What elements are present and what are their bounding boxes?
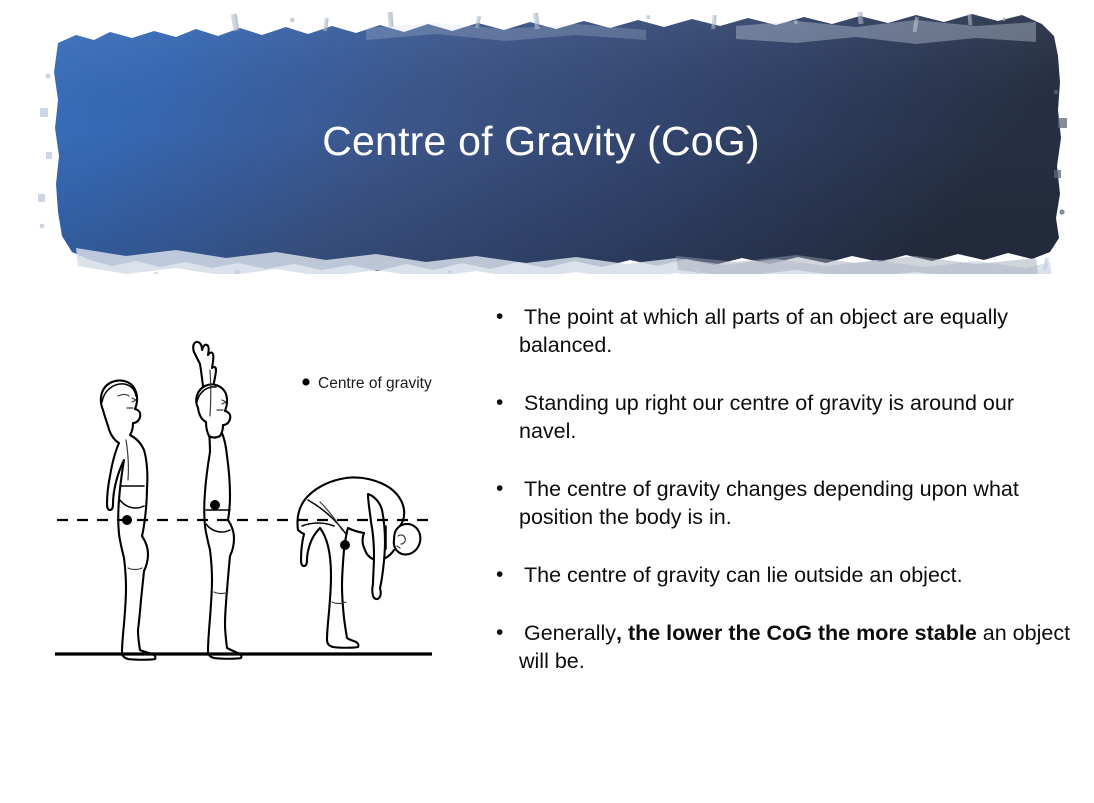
bullet-marker-icon: •	[489, 303, 519, 331]
centre-of-gravity-diagram: Centre of gravity	[40, 330, 490, 675]
bullet-marker-icon: •	[489, 561, 519, 589]
list-item: • The centre of gravity changes dependin…	[489, 475, 1077, 531]
list-item: • Standing up right our centre of gravit…	[489, 389, 1077, 445]
bullet-text: The point at which all parts of an objec…	[519, 303, 1077, 359]
bullet-text-emphasised: Generally, the lower the CoG the more st…	[519, 619, 1077, 675]
legend-label: Centre of gravity	[318, 375, 432, 392]
list-item: • The point at which all parts of an obj…	[489, 303, 1077, 359]
bullet-text: The centre of gravity can lie outside an…	[519, 561, 1077, 589]
list-item: • The centre of gravity can lie outside …	[489, 561, 1077, 589]
figure-bent-over	[297, 477, 420, 647]
title-banner: Centre of Gravity (CoG)	[36, 12, 1068, 274]
bullet-text: The centre of gravity changes depending …	[519, 475, 1077, 531]
bullet-text-plain-start: Generally	[524, 621, 616, 645]
slide-canvas: Centre of Gravity (CoG)	[0, 0, 1094, 803]
bullet-list: • The point at which all parts of an obj…	[489, 303, 1077, 705]
legend-bullet-icon	[302, 378, 309, 385]
bullet-marker-icon: •	[489, 619, 519, 647]
bullet-text: Standing up right our centre of gravity …	[519, 389, 1077, 445]
bullet-text-bold: , the lower the CoG the more stable	[616, 621, 977, 645]
bullet-marker-icon: •	[489, 475, 519, 503]
page-title: Centre of Gravity (CoG)	[36, 119, 1046, 164]
list-item: • Generally, the lower the CoG the more …	[489, 619, 1077, 675]
figure-standing-arms-raised	[193, 342, 241, 659]
bullet-marker-icon: •	[489, 389, 519, 417]
